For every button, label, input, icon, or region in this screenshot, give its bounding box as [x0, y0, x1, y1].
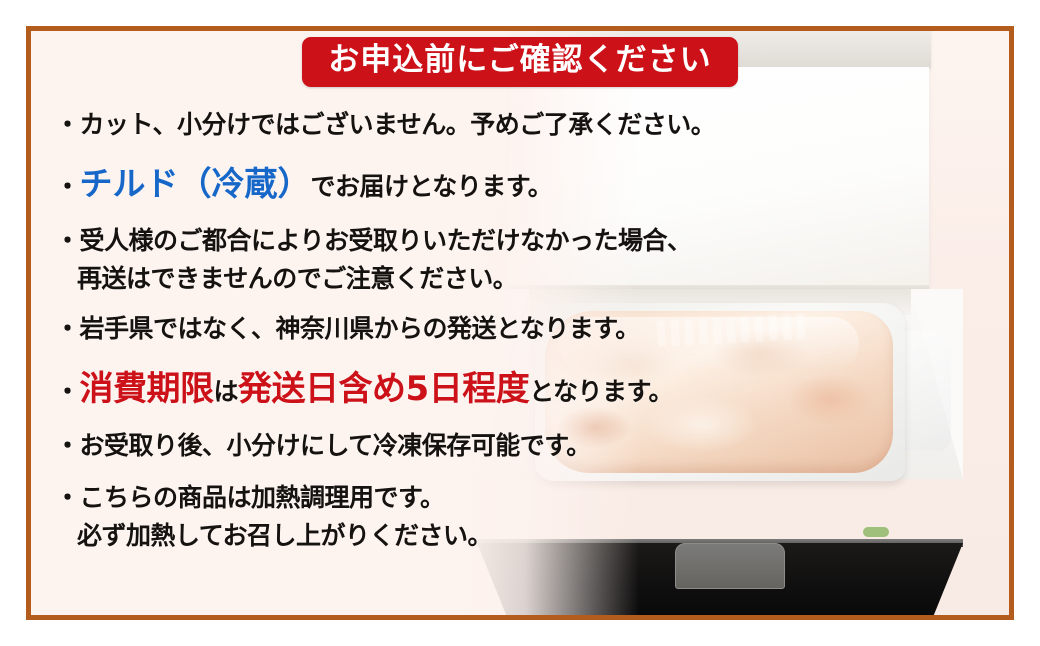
notice-item-7-text-b: 必ず加熱してお召し上がりください。 [77, 521, 492, 550]
notice-item-5: ・消費期限は発送日含め5日程度となります。 [55, 361, 985, 410]
notice-content: お申込前にご確認ください ・カット、小分けではございません。予めご了承ください。… [31, 31, 1009, 615]
notice-item-4-text: 岩手県ではなく、神奈川県からの発送となります。 [80, 314, 640, 343]
notice-list: ・カット、小分けではございません。予めご了承ください。 ・チルド（冷蔵）でお届け… [55, 97, 985, 552]
bullet-7: ・ [55, 483, 80, 512]
notice-item-2-rest: でお届けとなります。 [311, 172, 553, 201]
notice-item-6-text: お受取り後、小分けにして冷凍保存可能です。 [80, 431, 591, 460]
bordered-frame: お申込前にご確認ください ・カット、小分けではございません。予めご了承ください。… [26, 26, 1014, 620]
bullet-5: ・ [55, 377, 80, 406]
notice-item-5-black-a: は [214, 377, 239, 406]
bullet-3: ・ [55, 226, 80, 255]
notice-item-2: ・チルド（冷蔵）でお届けとなります。 [55, 157, 985, 205]
expiry-days-highlight: 発送日含め5日程度 [238, 369, 529, 409]
notice-item-3-text-b: 再送はできませんのでご注意ください。 [77, 264, 517, 293]
notice-item-7-text-a: こちらの商品は加熱調理用です。 [80, 483, 445, 512]
notice-item-1-text: カット、小分けではございません。予めご了承ください。 [80, 110, 716, 139]
notice-item-7-line-a: ・こちらの商品は加熱調理用です。 [55, 478, 985, 514]
bullet-6: ・ [55, 431, 80, 460]
notice-banner-title: お申込前にご確認ください [302, 37, 737, 87]
banner-container: お申込前にご確認ください [31, 37, 1009, 87]
notice-item-3-text-a: 受人様のご都合によりお受取りいただけなかった場合、 [80, 226, 692, 255]
expiry-label-highlight: 消費期限 [80, 369, 214, 409]
chilled-highlight: チルド（冷蔵） [80, 164, 311, 203]
notice-item-3-line-a: ・受人様のご都合によりお受取りいただけなかった場合、 [55, 221, 985, 257]
notice-item-7-line-b: 必ず加熱してお召し上がりください。 [55, 516, 985, 552]
notice-item-3-line-b: 再送はできませんのでご注意ください。 [55, 259, 985, 295]
notice-item-1: ・カット、小分けではございません。予めご了承ください。 [55, 105, 985, 141]
notice-item-5-black-b: となります。 [529, 377, 673, 406]
notice-item-4: ・岩手県ではなく、神奈川県からの発送となります。 [55, 309, 985, 345]
bullet-4: ・ [55, 314, 80, 343]
promo-image-root: お申込前にご確認ください ・カット、小分けではございません。予めご了承ください。… [0, 0, 1040, 646]
bullet-2: ・ [55, 172, 80, 201]
bullet-1: ・ [55, 110, 80, 139]
notice-item-6: ・お受取り後、小分けにして冷凍保存可能です。 [55, 426, 985, 462]
